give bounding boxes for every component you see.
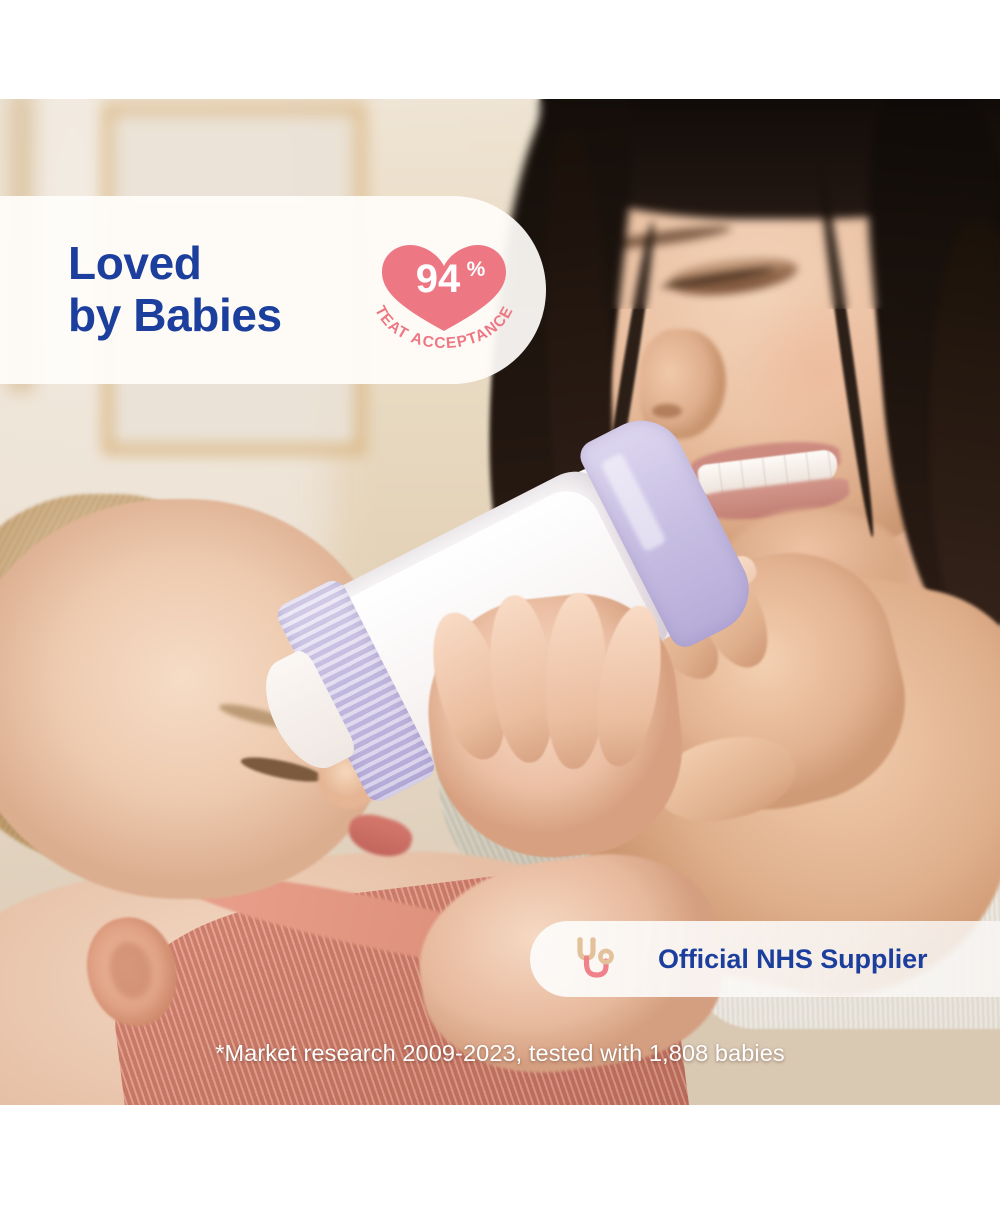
official-nhs-supplier-badge: Official NHS Supplier — [530, 921, 1000, 997]
page-title: Loved by Babies — [68, 238, 282, 341]
stethoscope-icon — [570, 934, 620, 984]
teat-acceptance-badge: 94 % TEAT ACCEPTANCE — [356, 236, 532, 354]
teat-acceptance-percent-symbol: % — [467, 258, 486, 281]
promo-banner: Loved by Babies 94 % TEAT ACCEPTANCE — [0, 0, 1000, 1208]
teat-acceptance-percent-value: 94 — [416, 257, 461, 301]
woman-nostril — [652, 404, 682, 418]
footnote-text: *Market research 2009-2023, tested with … — [0, 1040, 1000, 1067]
official-nhs-supplier-label: Official NHS Supplier — [658, 944, 927, 975]
